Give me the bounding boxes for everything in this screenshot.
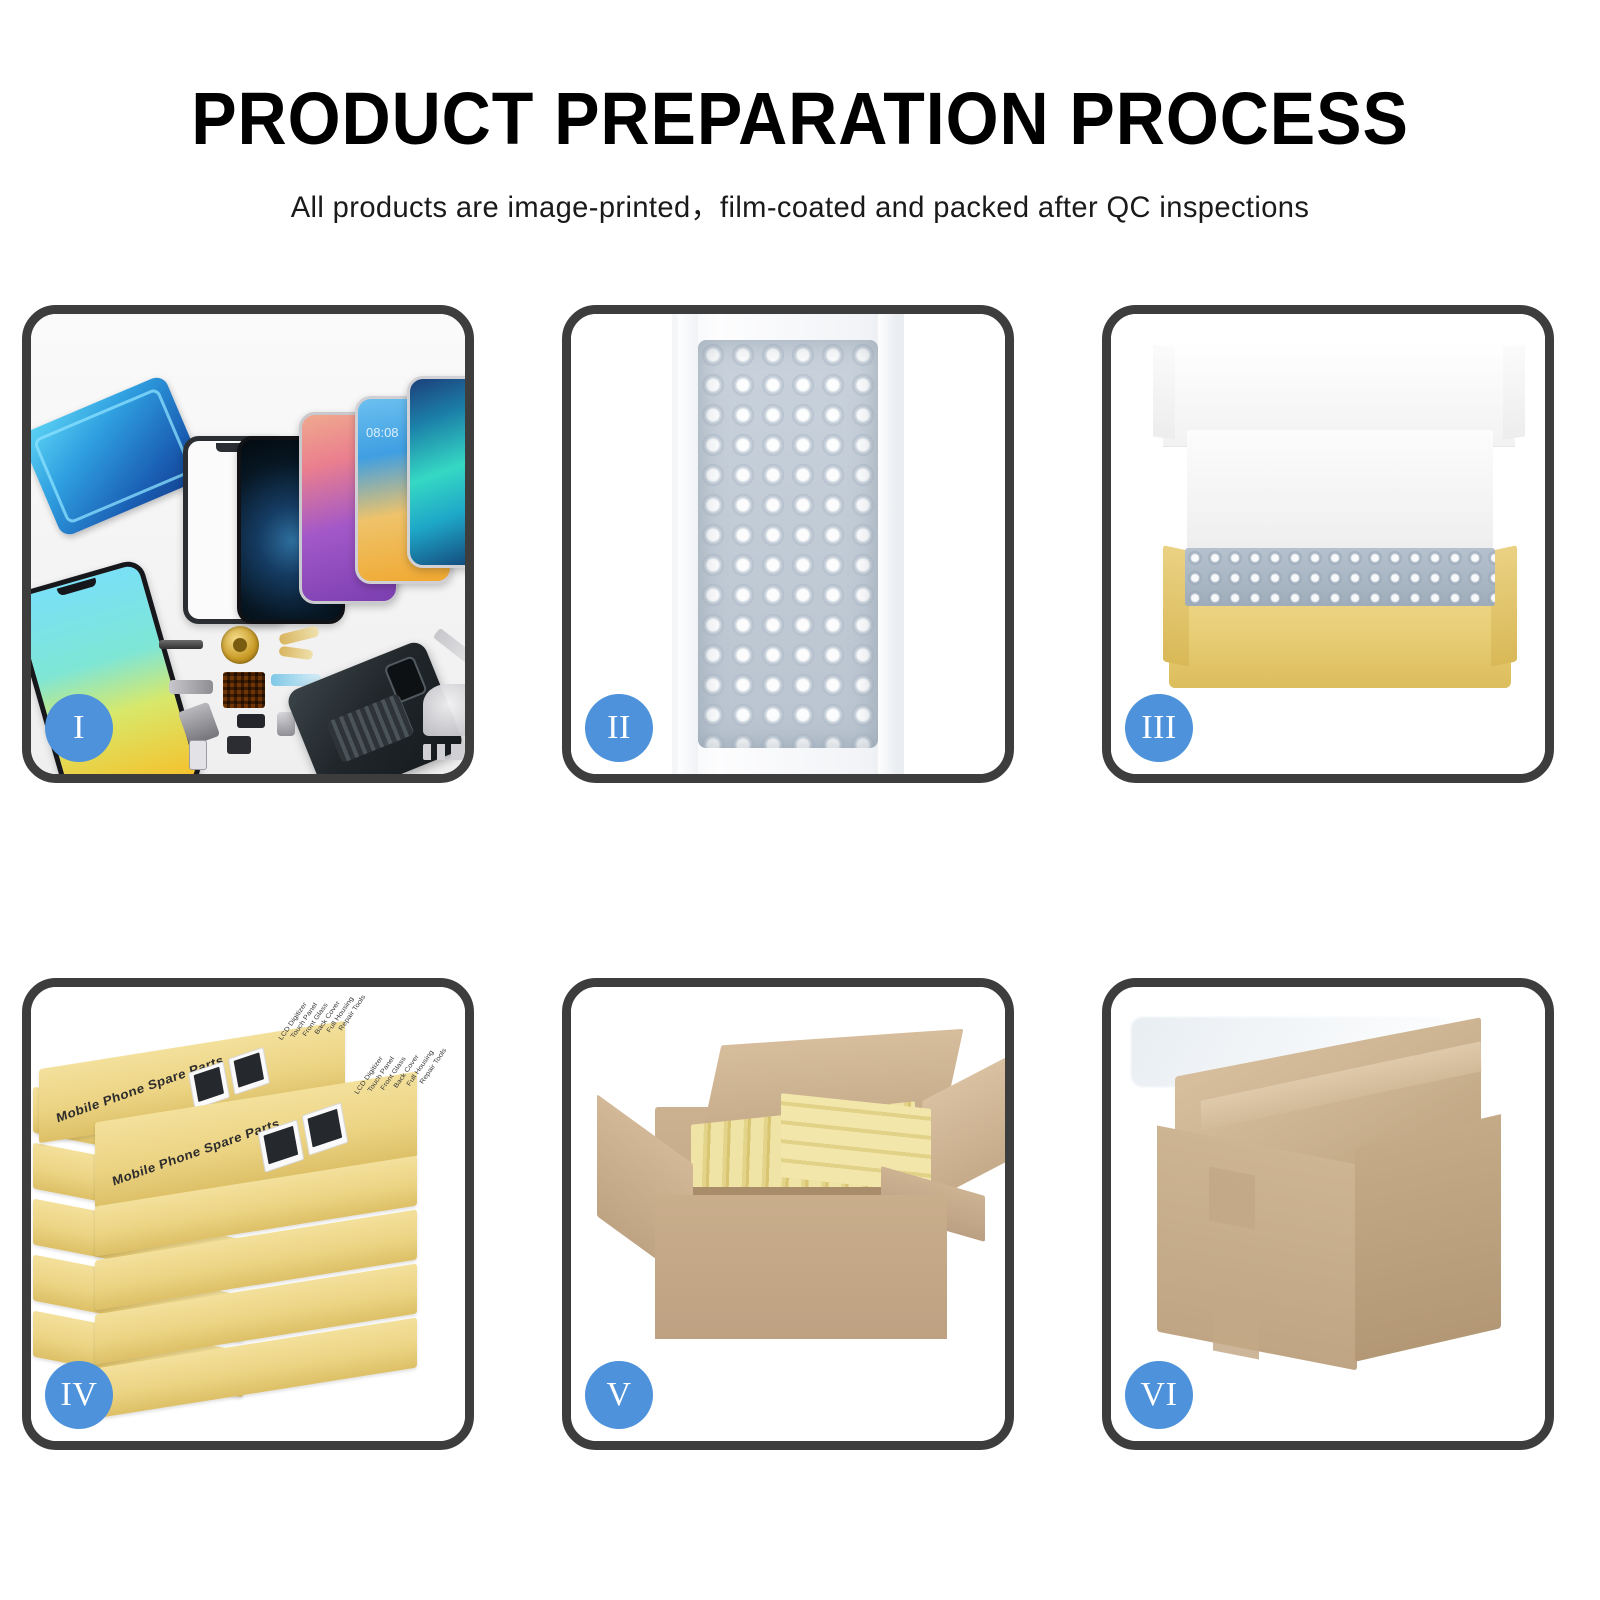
box-screen-photo — [302, 1102, 349, 1155]
small-chip-part — [237, 714, 265, 728]
yellow-box-tray — [1169, 572, 1511, 688]
step-badge-6: VI — [1125, 1361, 1193, 1429]
phone-notch-icon — [57, 578, 98, 597]
steps-grid: 08:08 — [0, 0, 1600, 1600]
packing-tape-patch — [1213, 1307, 1259, 1360]
product-preparation-infographic: PRODUCT PREPARATION PROCESS All products… — [0, 0, 1600, 1600]
carton-front-face — [655, 1195, 947, 1339]
step-card-2[interactable]: II — [562, 305, 1014, 783]
step-badge-5: V — [585, 1361, 653, 1429]
teal-phone-icon — [407, 376, 465, 568]
step-card-6[interactable]: VI — [1102, 978, 1554, 1450]
battery-part — [326, 693, 415, 763]
step-card-4[interactable]: Mobile Phone Spare Parts LCD Digitizer T… — [22, 978, 474, 1450]
repair-tool-part — [423, 684, 465, 736]
wireless-charging-coil-part — [221, 626, 259, 664]
button-part — [227, 736, 251, 754]
pouch-seal-edge — [678, 314, 698, 774]
step-badge-2: II — [585, 694, 653, 762]
step-badge-1: I — [45, 694, 113, 762]
flex-cable-part — [169, 680, 213, 694]
ic-chip-part — [223, 672, 265, 708]
step-badge-3: III — [1125, 694, 1193, 762]
carton-right-face — [1355, 1114, 1501, 1362]
step-card-3[interactable]: III — [1102, 305, 1554, 783]
earpiece-speaker-part — [159, 640, 203, 649]
bubble-wrapped-product — [1185, 548, 1495, 606]
bubble-wrap-pouch — [672, 314, 904, 774]
step-card-5[interactable]: V — [562, 978, 1014, 1450]
shipping-carton — [655, 1107, 947, 1339]
screws-part — [423, 744, 465, 760]
packing-tape-patch — [1209, 1167, 1255, 1230]
phone-clock-label: 08:08 — [366, 425, 399, 440]
step-card-1[interactable]: 08:08 — [22, 305, 474, 783]
step-badge-4: IV — [45, 1361, 113, 1429]
sealed-carton — [1157, 1047, 1501, 1357]
bubble-pattern — [698, 340, 878, 748]
retail-box-brand-label: Mobile Phone Spare Parts — [111, 1115, 281, 1188]
pouch-seal-edge — [878, 314, 898, 774]
box-screen-photo — [228, 1047, 270, 1095]
sim-tray-part — [189, 740, 207, 770]
